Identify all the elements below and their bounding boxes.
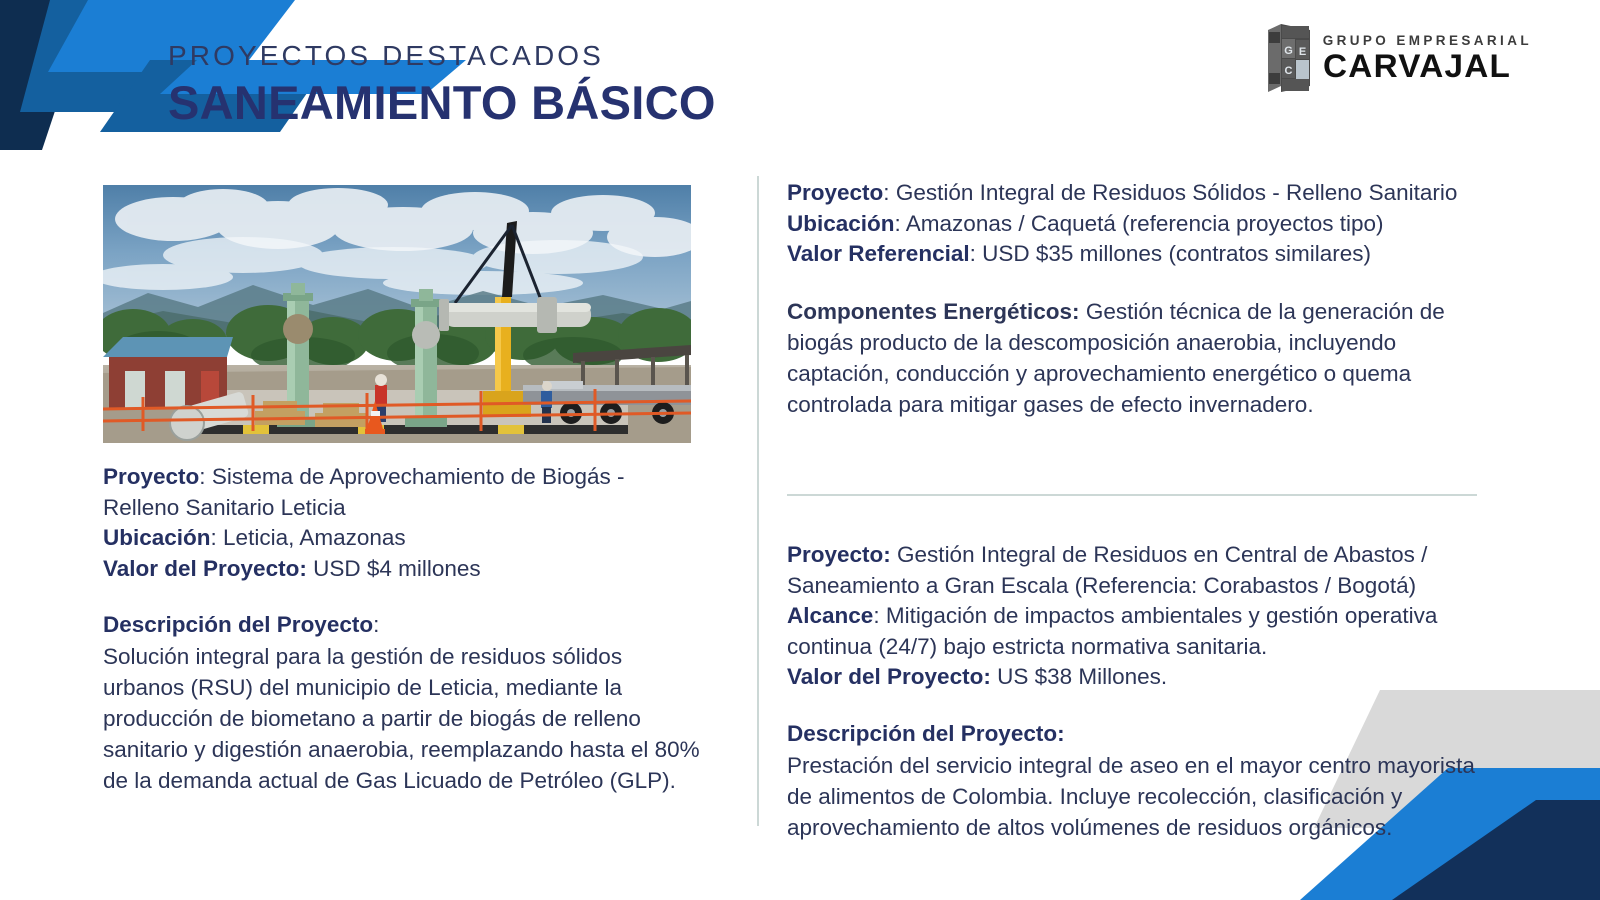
r1-field-valor-sep: :: [970, 241, 983, 266]
page-title: SANEAMIENTO BÁSICO: [168, 78, 716, 127]
logo-line-grupo-empresarial: GRUPO EMPRESARIAL: [1323, 34, 1532, 48]
left-description-label-sep: :: [373, 612, 379, 637]
left-column: Proyecto: Sistema de Aprovechamiento de …: [103, 185, 703, 796]
r1-field-ubicacion-value: Amazonas / Caquetá (referencia proyectos…: [906, 211, 1384, 236]
r1-field-ubicacion-label: Ubicación: [787, 211, 895, 236]
logo-wordmark: GRUPO EMPRESARIAL CARVAJAL: [1323, 34, 1532, 83]
left-field-ubicacion-value: Leticia, Amazonas: [223, 525, 406, 550]
left-field-ubicacion-sep: :: [211, 525, 224, 550]
spacer: [787, 693, 1477, 719]
r1-field-proyecto-value: Gestión Integral de Residuos Sólidos - R…: [896, 180, 1458, 205]
project-photo-biogas-leticia: [103, 185, 691, 443]
svg-text:C: C: [1284, 65, 1292, 77]
r2-field-valor: Valor del Proyecto: US $38 Millones.: [787, 662, 1477, 693]
left-field-proyecto-sep: :: [199, 464, 212, 489]
r2-field-alcance: Alcance: Mitigación de impactos ambienta…: [787, 601, 1477, 662]
right-project-2: Proyecto: Gestión Integral de Residuos e…: [787, 540, 1477, 843]
r1-field-proyecto: Proyecto: Gestión Integral de Residuos S…: [787, 178, 1477, 209]
r1-componentes-label: Componentes Energéticos:: [787, 299, 1080, 324]
column-divider: [757, 176, 759, 826]
r1-field-proyecto-sep: :: [883, 180, 896, 205]
r2-description-text: Prestación del servicio integral de aseo…: [787, 750, 1477, 843]
left-field-ubicacion-label: Ubicación: [103, 525, 211, 550]
right-project-1: Proyecto: Gestión Integral de Residuos S…: [787, 178, 1477, 420]
left-field-valor-label: Valor del Proyecto:: [103, 556, 307, 581]
r2-field-valor-label: Valor del Proyecto:: [787, 664, 991, 689]
spacer: [103, 584, 703, 610]
left-field-ubicacion: Ubicación: Leticia, Amazonas: [103, 523, 703, 554]
page-eyebrow: PROYECTOS DESTACADOS: [168, 42, 716, 70]
r1-componentes-energeticos: Componentes Energéticos: Gestión técnica…: [787, 296, 1477, 420]
r1-field-valor-label: Valor Referencial: [787, 241, 970, 266]
r2-description-label: Descripción del Proyecto:: [787, 721, 1065, 746]
logo-line-carvajal: CARVAJAL: [1323, 50, 1541, 82]
brand-logo: G E C GRUPO EMPRESARIAL CARVAJAL: [1268, 24, 1532, 92]
gec-cube-icon: G E C: [1268, 24, 1310, 92]
left-field-proyecto-label: Proyecto: [103, 464, 199, 489]
r1-field-valor-referencial: Valor Referencial: USD $35 millones (con…: [787, 239, 1477, 270]
spacer: [787, 496, 1477, 540]
r2-description-heading: Descripción del Proyecto:: [787, 719, 1477, 750]
r2-field-proyecto-label: Proyecto:: [787, 542, 891, 567]
spacer: [787, 270, 1477, 296]
slide-header: PROYECTOS DESTACADOS SANEAMIENTO BÁSICO: [168, 42, 716, 127]
spacer: [787, 420, 1477, 494]
right-column: Proyecto: Gestión Integral de Residuos S…: [787, 178, 1477, 843]
r2-field-proyecto: Proyecto: Gestión Integral de Residuos e…: [787, 540, 1477, 601]
svg-text:G: G: [1284, 45, 1293, 57]
r1-field-ubicacion: Ubicación: Amazonas / Caquetá (referenci…: [787, 209, 1477, 240]
r2-field-alcance-sep: :: [873, 603, 886, 628]
left-field-valor-value: USD $4 millones: [313, 556, 481, 581]
r2-field-alcance-label: Alcance: [787, 603, 873, 628]
left-description-label: Descripción del Proyecto: [103, 612, 373, 637]
left-field-proyecto: Proyecto: Sistema de Aprovechamiento de …: [103, 462, 703, 523]
left-description-text: Solución integral para la gestión de res…: [103, 641, 703, 796]
r2-field-valor-value: US $38 Millones.: [997, 664, 1167, 689]
r1-field-valor-value: USD $35 millones (contratos similares): [982, 241, 1371, 266]
left-description-heading: Descripción del Proyecto:: [103, 610, 703, 641]
slide-canvas: PROYECTOS DESTACADOS SANEAMIENTO BÁSICO …: [0, 0, 1600, 900]
left-project-details: Proyecto: Sistema de Aprovechamiento de …: [103, 462, 703, 796]
svg-text:E: E: [1299, 46, 1306, 58]
deco-shape-navy-deep: [0, 0, 92, 150]
left-field-valor: Valor del Proyecto: USD $4 millones: [103, 554, 703, 585]
r1-field-proyecto-label: Proyecto: [787, 180, 883, 205]
r1-field-ubicacion-sep: :: [895, 211, 906, 236]
